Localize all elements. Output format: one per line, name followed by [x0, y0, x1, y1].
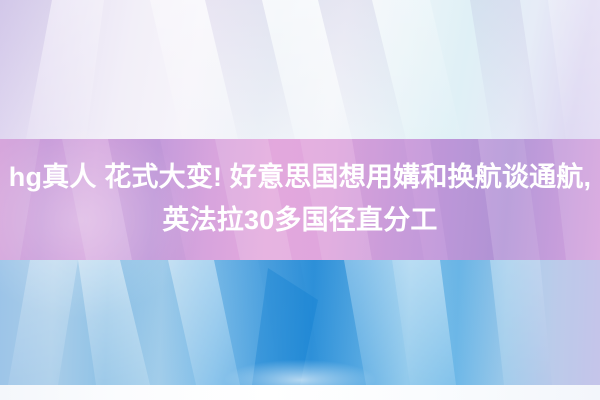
promo-banner: hg真人 花式大变! 好意思国想用媾和换航谈通航, 英法拉30多国径直分工: [0, 0, 600, 400]
headline-line-1: hg真人 花式大变! 好意思国想用媾和换航谈通航,: [0, 156, 600, 199]
banner-headline: hg真人 花式大变! 好意思国想用媾和换航谈通航, 英法拉30多国径直分工: [0, 156, 600, 242]
background-band-blue: [0, 260, 600, 385]
background-band-bottom-strip: [0, 385, 600, 400]
background-band-top: [0, 0, 600, 139]
headline-line-2: 英法拉30多国径直分工: [0, 199, 600, 242]
